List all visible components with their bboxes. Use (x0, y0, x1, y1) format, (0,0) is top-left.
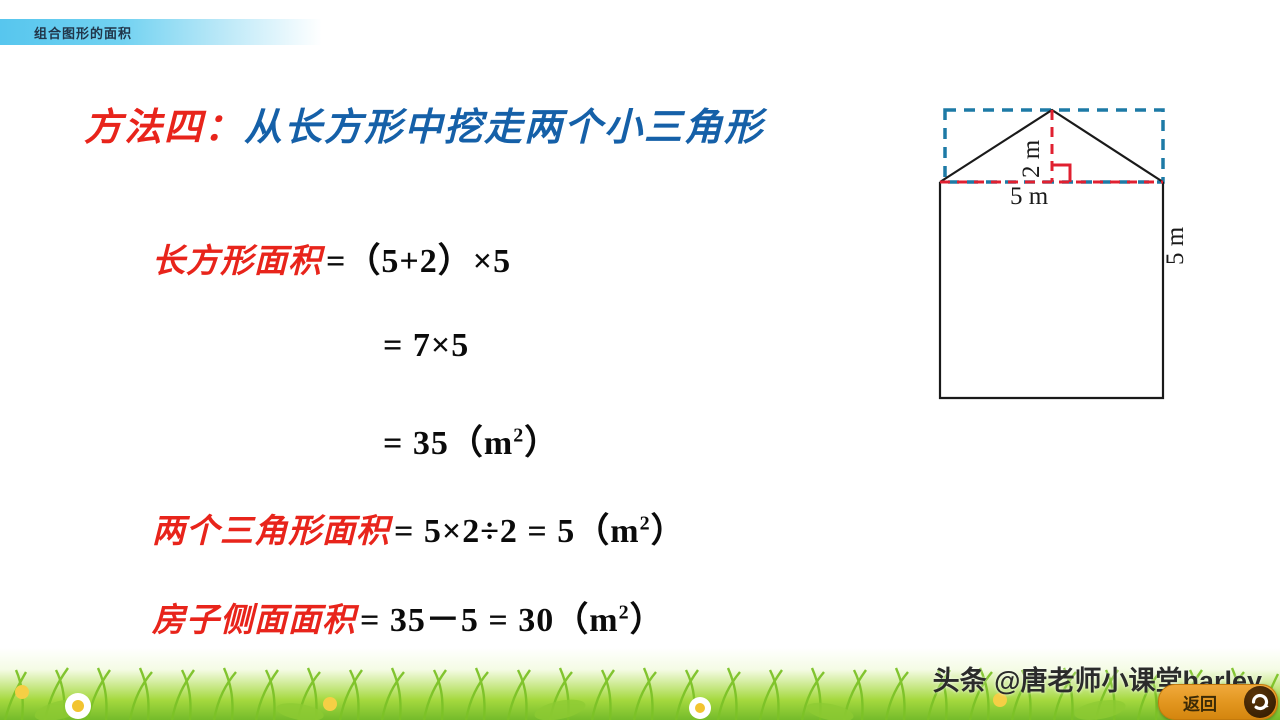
return-button-label: 返回 (1183, 690, 1217, 715)
equation-math: = 5×2÷2 = 5（m2） (394, 513, 686, 550)
equation-house-side-area: 房子侧面面积 = 35－5 = 30（m2） (152, 592, 665, 641)
equation-rectangle-area: 长方形面积 =（5+2）×5 (152, 233, 511, 282)
equation-label: 房子侧面面积 (152, 600, 356, 639)
equation-math: =（5+2）×5 (326, 243, 511, 280)
equation-rectangle-area-step3: = 35（m2） (383, 415, 559, 464)
daisy-flower-icon (15, 685, 1007, 719)
equation-math: = 7×5 (383, 327, 469, 364)
return-button[interactable]: 返回 (1158, 684, 1278, 720)
figure-side-label: 5 m (1162, 227, 1190, 265)
top-banner: 组合图形的面积 (0, 19, 322, 45)
equation-label: 长方形面积 (152, 241, 322, 280)
dashed-bounding-rect-icon (945, 110, 1163, 182)
equation-math: = 35－5 = 30（m2） (360, 602, 665, 639)
banner-title: 组合图形的面积 (34, 23, 132, 42)
equation-label: 两个三角形面积 (152, 511, 390, 550)
refresh-arrow-icon[interactable] (1244, 686, 1276, 718)
figure-height-label: 2 m (1018, 140, 1046, 178)
equation-rectangle-area-step2: = 7×5 (383, 327, 469, 365)
method-label: 方法四： (84, 104, 244, 149)
house-body-outline (940, 182, 1163, 398)
equation-two-triangles-area: 两个三角形面积 = 5×2÷2 = 5（m2） (152, 503, 686, 552)
figure-base-label: 5 m (1010, 183, 1048, 211)
page-title: 方法四：从长方形中挖走两个小三角形 (84, 96, 764, 151)
method-text: 从长方形中挖走两个小三角形 (244, 104, 764, 149)
equation-math: = 35（m2） (383, 425, 559, 462)
right-angle-marker-icon (1052, 165, 1070, 182)
house-diagram: 5 m 5 m 2 m (900, 90, 1230, 420)
